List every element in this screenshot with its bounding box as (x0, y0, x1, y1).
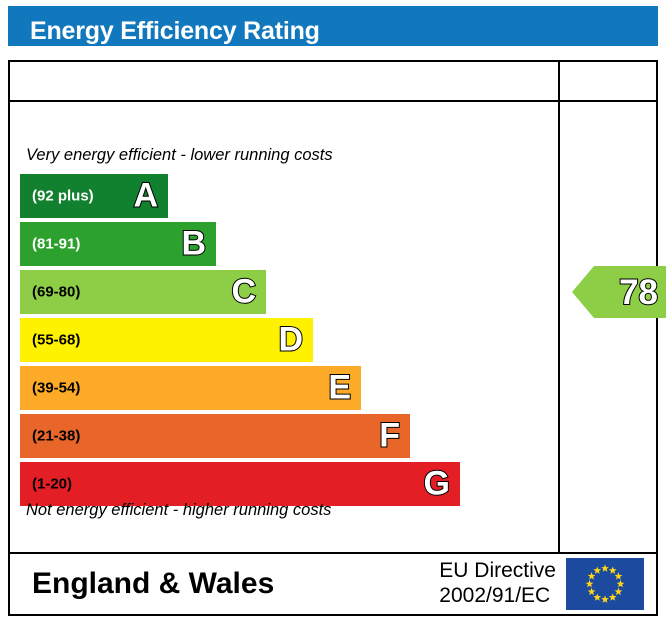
header-band: Energy Efficiency Rating (8, 6, 658, 46)
rating-bar-f: (21-38)F (20, 414, 410, 458)
rating-bar-letter-c: C (231, 274, 256, 308)
page-title: Energy Efficiency Rating (30, 17, 320, 46)
rating-bar-e: (39-54)E (20, 366, 361, 410)
current-rating-arrow: 78 (572, 266, 666, 318)
rating-bar-g: (1-20)G (20, 462, 460, 506)
rating-bar-letter-f: F (379, 418, 400, 452)
footer-directive-label: EU Directive 2002/91/EC (439, 559, 556, 609)
rating-bar-a: (92 plus)A (20, 174, 168, 218)
table-top-row (10, 62, 656, 102)
current-rating-value: 78 (619, 275, 658, 310)
top-row-divider (558, 62, 560, 102)
energy-efficiency-certificate: Energy Efficiency Rating Very energy eff… (0, 0, 666, 624)
rating-bar-letter-g: G (424, 466, 450, 500)
rating-bar-letter-a: A (133, 178, 158, 212)
chart-body: Very energy efficient - lower running co… (10, 102, 656, 554)
rating-bar-d: (55-68)D (20, 318, 313, 362)
eu-flag-icon (566, 558, 644, 610)
rating-bars: (92 plus)A(81-91)B(69-80)C(55-68)D(39-54… (10, 102, 558, 554)
rating-bar-range-g: (1-20) (32, 476, 72, 493)
directive-line-1: EU Directive (439, 559, 556, 584)
rating-bar-range-b: (81-91) (32, 236, 80, 253)
rating-bar-letter-d: D (278, 322, 303, 356)
rating-bar-range-d: (55-68) (32, 332, 80, 349)
rating-bar-range-a: (92 plus) (32, 188, 94, 205)
current-rating-column: 78 (560, 102, 660, 554)
directive-line-2: 2002/91/EC (439, 584, 556, 609)
rating-bar-letter-e: E (328, 370, 351, 404)
footer-row: England & Wales EU Directive 2002/91/EC (10, 552, 656, 614)
rating-bar-range-e: (39-54) (32, 380, 80, 397)
rating-bar-b: (81-91)B (20, 222, 216, 266)
rating-bar-letter-b: B (181, 226, 206, 260)
rating-table: Very energy efficient - lower running co… (8, 60, 658, 616)
caption-not-efficient: Not energy efficient - higher running co… (26, 501, 331, 520)
footer-region-label: England & Wales (32, 567, 274, 601)
rating-bar-range-c: (69-80) (32, 284, 80, 301)
rating-bar-range-f: (21-38) (32, 428, 80, 445)
rating-bar-c: (69-80)C (20, 270, 266, 314)
